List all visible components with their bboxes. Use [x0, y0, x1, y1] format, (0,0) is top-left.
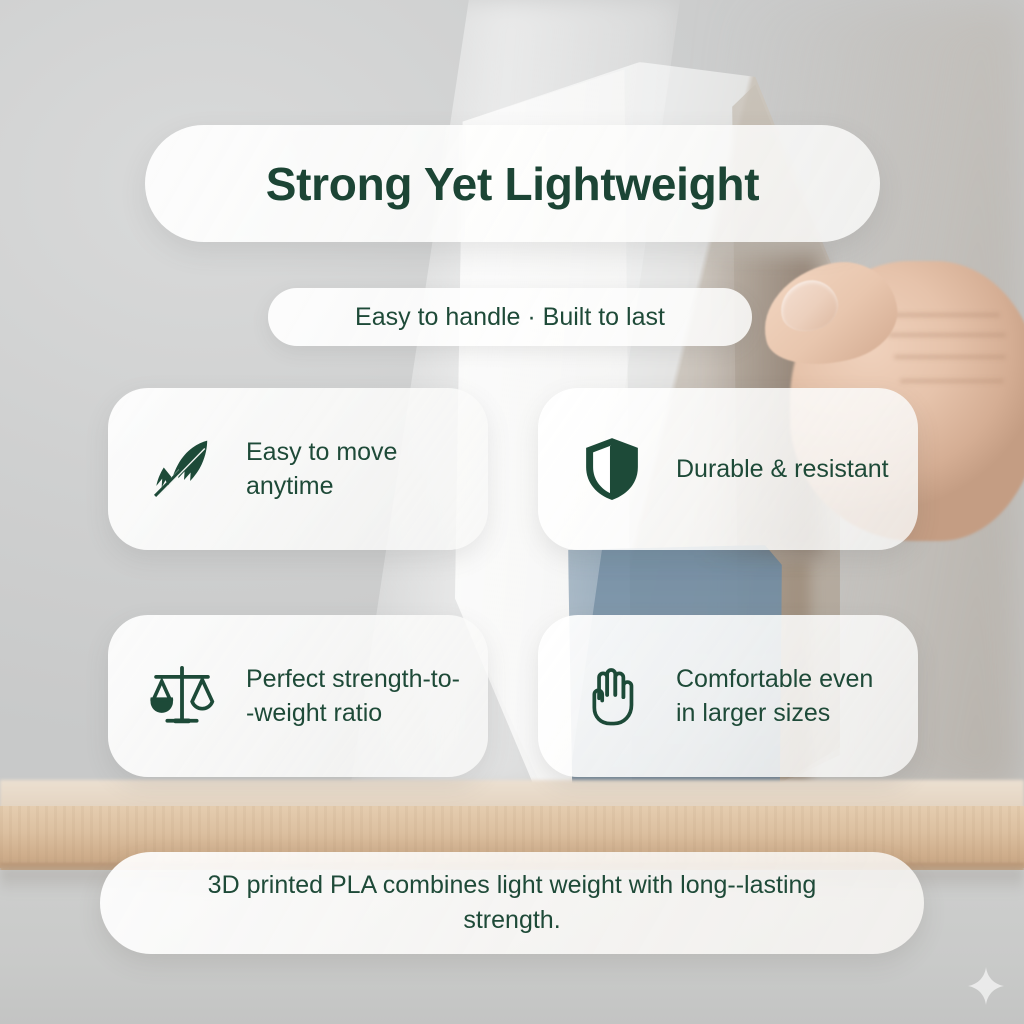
shield-icon [574, 431, 650, 507]
feature-label: Perfect strength-to--weight ratio [246, 662, 462, 731]
feature-card[interactable]: Durable & resistant [538, 388, 918, 550]
feature-label: Comfortable even in larger sizes [676, 662, 892, 731]
feature-card[interactable]: Perfect strength-to--weight ratio [108, 615, 488, 777]
footer-banner: 3D printed PLA combines light weight wit… [100, 852, 924, 954]
feature-card[interactable]: Comfortable even in larger sizes [538, 615, 918, 777]
feature-label: Easy to move anytime [246, 435, 462, 504]
feature-label: Durable & resistant [676, 452, 889, 487]
feather-icon [144, 431, 220, 507]
feature-card[interactable]: Easy to move anytime [108, 388, 488, 550]
footer-text: 3D printed PLA combines light weight wit… [162, 868, 862, 939]
balance-scale-icon [144, 658, 220, 734]
hand-icon [574, 658, 650, 734]
infographic-canvas: Strong Yet Lightweight Easy to handle · … [0, 0, 1024, 1024]
sparkle-icon [966, 966, 1006, 1006]
